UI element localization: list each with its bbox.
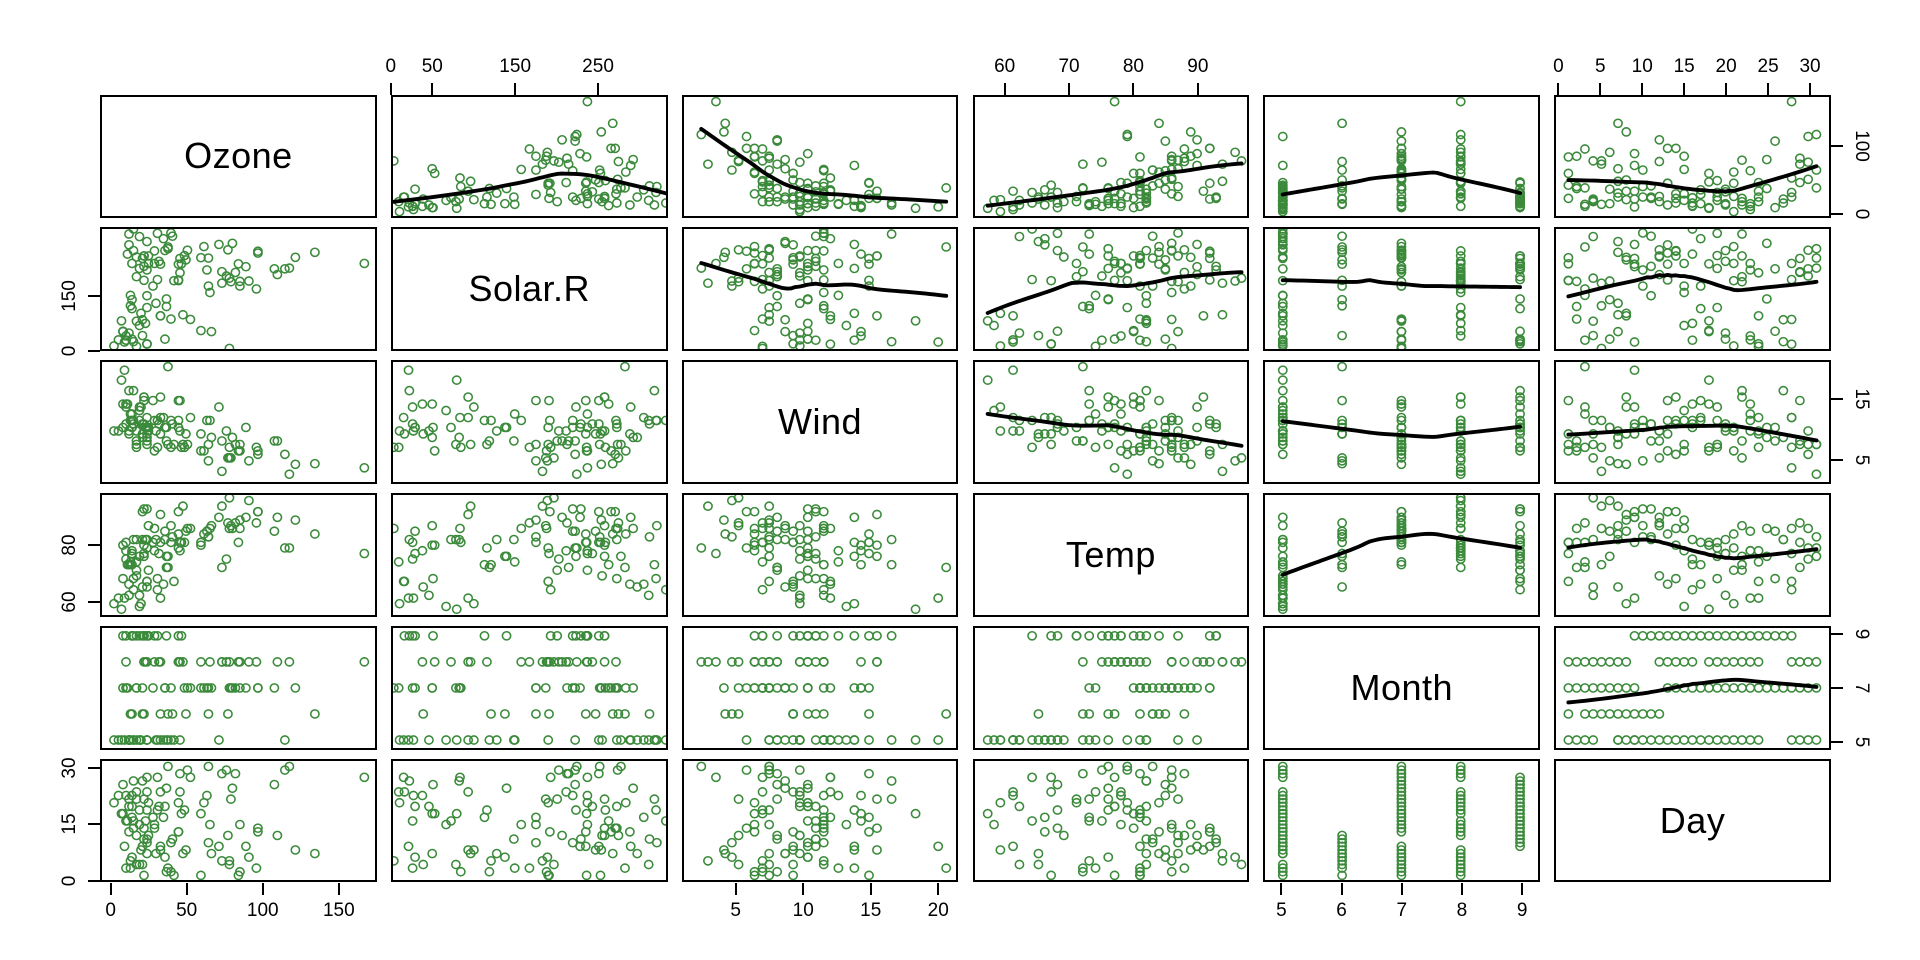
variable-label: Ozone <box>102 97 375 217</box>
axis-tick-label: 25 <box>1758 56 1779 78</box>
variable-label: Wind <box>684 362 957 482</box>
axis-tick <box>1831 741 1843 743</box>
axis-tick <box>390 83 392 95</box>
axis-tick <box>597 83 599 95</box>
data-points <box>983 229 1245 349</box>
axis-tick <box>802 883 804 895</box>
scatter-panel-ozone-vs-wind <box>100 360 377 484</box>
axis-tick <box>1461 883 1463 895</box>
axis-tick-label: 30 <box>1799 56 1820 78</box>
data-points <box>393 632 666 744</box>
axis-tick-label: 50 <box>176 900 197 922</box>
axis-tick <box>937 883 939 895</box>
data-points <box>1279 495 1525 613</box>
axis-tick-label: 5 <box>1595 56 1606 78</box>
scatter-panel-temp-vs-solar-r <box>973 227 1250 351</box>
axis-tick <box>1132 83 1134 95</box>
data-points <box>697 762 950 879</box>
axis-tick <box>1599 83 1601 95</box>
axis-tick <box>514 83 516 95</box>
scatter-panel-day-vs-temp <box>1554 493 1831 617</box>
scatter-panel-solar-r-vs-month <box>391 626 668 750</box>
axis-tick <box>186 883 188 895</box>
axis-tick <box>1004 83 1006 95</box>
lowess-smoother <box>1569 275 1817 296</box>
scatter-panel-solar-r-vs-day <box>391 759 668 883</box>
data-points <box>393 363 666 479</box>
axis-tick <box>1809 83 1811 95</box>
axis-tick <box>88 823 100 825</box>
scatter-panel-day-vs-wind <box>1554 360 1831 484</box>
axis-tick <box>1767 83 1769 95</box>
lowess-smoother <box>701 263 946 296</box>
variable-label: Month <box>1265 628 1538 748</box>
axis-tick-label: 50 <box>422 56 443 78</box>
axis-tick <box>1641 83 1643 95</box>
axis-tick-label: 5 <box>730 900 741 922</box>
axis-tick-label: 0 <box>105 900 116 922</box>
axis-tick <box>1280 883 1282 895</box>
scatter-panel-wind-vs-day <box>682 759 959 883</box>
data-points <box>393 495 666 613</box>
axis-tick-label: 90 <box>1187 56 1208 78</box>
scatter-panel-temp-vs-day <box>973 759 1250 883</box>
axis-tick-label: 7 <box>1850 682 1872 693</box>
data-points <box>1279 229 1525 349</box>
axis-tick-label: 60 <box>994 56 1015 78</box>
axis-tick-label: 5 <box>1850 455 1872 466</box>
data-points <box>393 762 666 879</box>
data-points <box>1564 363 1820 479</box>
axis-tick-label: 0 <box>59 875 81 886</box>
data-points <box>1279 363 1525 479</box>
axis-tick-label: 80 <box>59 534 81 555</box>
axis-tick <box>88 767 100 769</box>
axis-tick-label: 9 <box>1850 629 1872 640</box>
scatter-panel-solar-r-vs-temp <box>391 493 668 617</box>
axis-tick-label: 15 <box>59 814 81 835</box>
axis-tick-label: 250 <box>582 56 614 78</box>
scatter-panel-month-vs-solar-r <box>1263 227 1540 351</box>
axis-tick-label: 15 <box>860 900 881 922</box>
axis-tick <box>1831 459 1843 461</box>
axis-tick-label: 10 <box>1632 56 1653 78</box>
diagonal-panel-ozone: Ozone <box>100 95 377 219</box>
lowess-smoother <box>987 414 1241 446</box>
scatter-panel-ozone-vs-day <box>100 759 377 883</box>
scatter-panel-solar-r-vs-ozone <box>391 95 668 219</box>
data-points <box>697 229 950 349</box>
scatter-panel-ozone-vs-month <box>100 626 377 750</box>
data-points <box>110 229 369 349</box>
axis-tick <box>88 880 100 882</box>
data-points <box>110 762 369 879</box>
data-points <box>1564 632 1820 744</box>
axis-tick <box>1521 883 1523 895</box>
data-points <box>110 363 369 479</box>
scatter-panel-month-vs-wind <box>1263 360 1540 484</box>
axis-tick <box>735 883 737 895</box>
data-points <box>983 97 1245 215</box>
axis-tick-label: 70 <box>1058 56 1079 78</box>
axis-tick-label: 150 <box>59 280 81 312</box>
axis-tick-label: 0 <box>1850 208 1872 219</box>
axis-tick <box>1831 687 1843 689</box>
axis-tick-label: 100 <box>247 900 279 922</box>
scatterplot-matrix: OzoneSolar.RWindTempMonthDay050150250607… <box>0 0 1920 960</box>
lowess-smoother <box>1569 680 1817 703</box>
data-points <box>1279 762 1525 879</box>
scatter-panel-month-vs-temp <box>1263 493 1540 617</box>
data-points <box>983 762 1245 879</box>
axis-tick <box>262 883 264 895</box>
axis-tick-label: 8 <box>1457 900 1468 922</box>
scatter-panel-solar-r-vs-wind <box>391 360 668 484</box>
axis-tick-label: 7 <box>1396 900 1407 922</box>
axis-tick <box>88 601 100 603</box>
axis-tick <box>1341 883 1343 895</box>
scatter-panel-temp-vs-month <box>973 626 1250 750</box>
axis-tick-label: 150 <box>499 56 531 78</box>
scatter-panel-month-vs-day <box>1263 759 1540 883</box>
scatter-panel-wind-vs-ozone <box>682 95 959 219</box>
axis-tick-label: 80 <box>1123 56 1144 78</box>
axis-tick-label: 5 <box>1276 900 1287 922</box>
axis-tick-label: 20 <box>1716 56 1737 78</box>
data-points <box>1564 97 1820 215</box>
axis-tick <box>870 883 872 895</box>
data-points <box>1279 97 1525 215</box>
axis-tick <box>1197 83 1199 95</box>
data-points <box>697 495 950 613</box>
axis-tick-label: 20 <box>928 900 949 922</box>
diagonal-panel-wind: Wind <box>682 360 959 484</box>
axis-tick-label: 0 <box>59 346 81 357</box>
scatter-panel-wind-vs-month <box>682 626 959 750</box>
axis-tick-label: 60 <box>59 592 81 613</box>
axis-tick <box>1725 83 1727 95</box>
variable-label: Solar.R <box>393 229 666 349</box>
axis-tick-label: 30 <box>59 757 81 778</box>
axis-tick <box>88 295 100 297</box>
scatter-panel-wind-vs-solar-r <box>682 227 959 351</box>
axis-tick-label: 9 <box>1517 900 1528 922</box>
scatter-panel-ozone-vs-temp <box>100 493 377 617</box>
axis-tick <box>1401 883 1403 895</box>
axis-tick-label: 0 <box>1553 56 1564 78</box>
axis-tick-label: 6 <box>1336 900 1347 922</box>
axis-tick-label: 0 <box>386 56 397 78</box>
scatter-panel-day-vs-month <box>1554 626 1831 750</box>
scatter-panel-ozone-vs-solar-r <box>100 227 377 351</box>
axis-tick-label: 150 <box>323 900 355 922</box>
axis-tick <box>1683 83 1685 95</box>
axis-tick-label: 10 <box>793 900 814 922</box>
axis-tick-label: 5 <box>1850 736 1872 747</box>
scatter-panel-day-vs-ozone <box>1554 95 1831 219</box>
data-points <box>110 632 369 744</box>
scatter-panel-temp-vs-wind <box>973 360 1250 484</box>
diagonal-panel-month: Month <box>1263 626 1540 750</box>
scatter-panel-day-vs-solar-r <box>1554 227 1831 351</box>
scatter-panel-wind-vs-temp <box>682 493 959 617</box>
axis-tick-label: 15 <box>1850 389 1872 410</box>
data-points <box>983 632 1245 744</box>
axis-tick <box>110 883 112 895</box>
axis-tick <box>1557 83 1559 95</box>
variable-label: Day <box>1556 761 1829 881</box>
axis-tick <box>1831 145 1843 147</box>
axis-tick <box>1831 633 1843 635</box>
axis-tick <box>88 350 100 352</box>
diagonal-panel-temp: Temp <box>973 493 1250 617</box>
variable-label: Temp <box>975 495 1248 615</box>
axis-tick <box>88 544 100 546</box>
diagonal-panel-solar-r: Solar.R <box>391 227 668 351</box>
axis-tick <box>338 883 340 895</box>
pairs-plot-figure: OzoneSolar.RWindTempMonthDay050150250607… <box>0 0 1920 960</box>
scatter-panel-temp-vs-ozone <box>973 95 1250 219</box>
axis-tick <box>1068 83 1070 95</box>
data-points <box>110 495 369 613</box>
lowess-smoother <box>987 272 1241 313</box>
diagonal-panel-day: Day <box>1554 759 1831 883</box>
data-points <box>697 632 950 744</box>
scatter-panel-month-vs-ozone <box>1263 95 1540 219</box>
axis-tick-label: 100 <box>1850 130 1872 162</box>
axis-tick-label: 15 <box>1674 56 1695 78</box>
axis-tick <box>1831 398 1843 400</box>
axis-tick <box>431 83 433 95</box>
axis-tick <box>1831 213 1843 215</box>
